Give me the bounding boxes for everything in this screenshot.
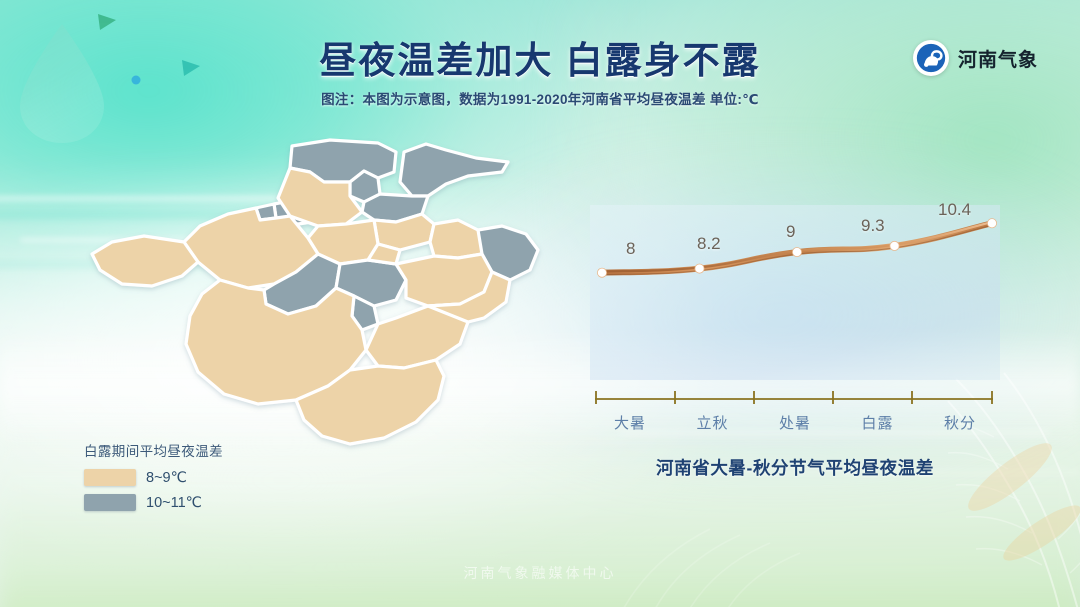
map-legend: 白露期间平均昼夜温差 8~9℃ 10~11℃: [84, 440, 223, 519]
x-tick-label-1: 立秋: [673, 412, 753, 433]
henan-meteorology-logo-icon: [913, 40, 949, 76]
watermark: 河南气象融媒体中心: [0, 563, 1080, 583]
legend-swatch-high: [84, 494, 136, 511]
brand-name: 河南气象: [958, 45, 1038, 72]
x-tick-label-2: 处暑: [755, 412, 835, 433]
x-tick-label-4: 秋分: [920, 412, 1000, 433]
x-tick-label-0: 大暑: [590, 412, 670, 433]
data-point-marker-3: [890, 241, 899, 250]
data-point-marker-1: [695, 264, 704, 273]
legend-label-low: 8~9℃: [146, 470, 187, 486]
data-label-3: 9.3: [861, 216, 885, 236]
chart-x-axis: [594, 390, 994, 404]
legend-swatch-low: [84, 469, 136, 486]
page-subtitle: 图注：本图为示意图，数据为1991-2020年河南省平均昼夜温差 单位:℃: [0, 88, 1080, 108]
legend-label-high: 10~11℃: [146, 495, 202, 511]
grass-decoration-icon: [600, 467, 860, 607]
data-label-4: 10.4: [938, 200, 971, 220]
data-point-marker-4: [987, 219, 996, 228]
line-chart-plot: [590, 195, 1010, 395]
chart-x-tick-labels: 大暑 立秋 处暑 白露 秋分: [590, 412, 1000, 433]
henan-province-map: [78, 138, 548, 468]
chart-title: 河南省大暑-秋分节气平均昼夜温差: [590, 455, 1000, 480]
x-tick-label-3: 白露: [838, 412, 918, 433]
legend-title: 白露期间平均昼夜温差: [84, 440, 223, 460]
infographic-canvas: 昼夜温差加大 白露身不露 图注：本图为示意图，数据为1991-2020年河南省平…: [0, 0, 1080, 607]
legend-item-low: 8~9℃: [84, 469, 223, 486]
map-region: [400, 144, 508, 196]
map-region: [92, 236, 198, 286]
data-label-0: 8: [626, 239, 635, 259]
data-label-1: 8.2: [697, 234, 721, 254]
legend-item-high: 10~11℃: [84, 494, 223, 511]
data-point-marker-2: [792, 247, 801, 256]
brand-block: 河南气象: [913, 40, 1038, 76]
data-label-2: 9: [786, 222, 795, 242]
data-point-marker-0: [597, 268, 606, 277]
